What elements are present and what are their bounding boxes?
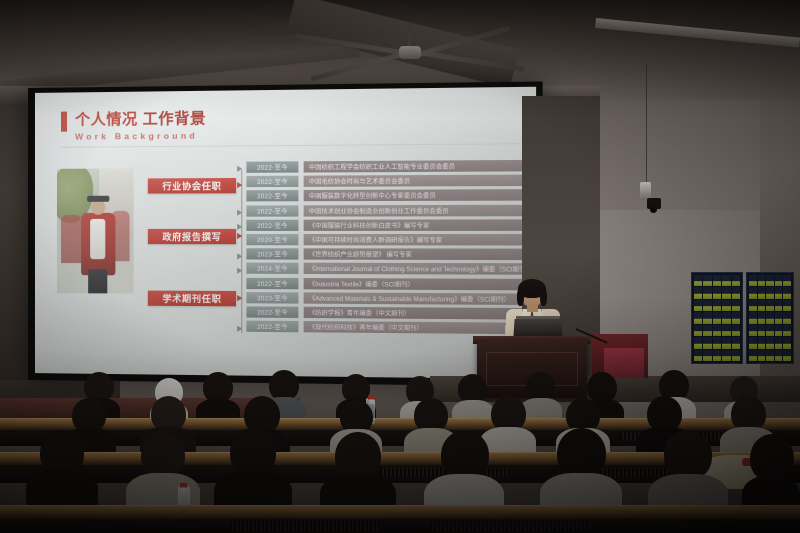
timeline-row-text: 《Advanced Materials & Sustainable Manufa… [304,292,525,305]
header-accent-bar [61,112,67,132]
header-divider [61,143,520,147]
timeline-row-text: 《现代纺织科技》青年编委（中文期刊） [304,321,525,334]
category-label-industry-association: 行业协会任职 [148,178,236,194]
row-arrow-icon [237,268,242,274]
timeline-row: 2022-至今中国技术创业协会制造业创新创业工作委员会委员 [246,204,524,216]
timeline-row: 2022-至今中国毛纺协会时尚与艺术委员会委员 [246,175,524,188]
key-cabinet-right [746,272,794,364]
timeline-row-year: 2022-至今 [246,161,298,173]
timeline-row-text: 《中国可持续时尚消费人群调研报告》编写专家 [304,234,525,245]
audience-member [320,432,396,516]
timeline-row-text: 中国毛纺协会时尚与艺术委员会委员 [304,175,525,187]
category-label-academic-journal: 学术期刊任职 [148,291,236,307]
slide-title-secondary: 工作背景 [142,110,205,128]
slide-portrait-photo [57,168,134,293]
timeline-row: 2022-至今《现代纺织科技》青年编委（中文期刊） [246,321,524,335]
timeline-row: 2022-至今中国服装数字化转型创新中心专家委员会委员 [246,190,524,202]
timeline-row: 2022-至今《纺织学报》青年编委（中文期刊） [246,306,524,319]
lecture-hall-photo: 个人情况 工作背景 Work Background 行业协会任职 政府报告 [0,0,800,533]
timeline-row-year: 2022-至今 [246,205,298,216]
timeline-row-year: 2023-至今 [246,292,298,304]
timeline-row: 2022-至今《中国服装行业科技创新白皮书》编写专家 [246,219,524,231]
row-arrow-icon [237,166,242,172]
timeline-row-year: 2022-至今 [246,176,298,187]
category-arrow-icon [237,182,242,188]
timeline-row: 2023-至今《Advanced Materials & Sustainable… [246,292,524,305]
timeline-row-text: 《International Journal of Clothing Scien… [304,263,525,275]
timeline-row: 2022-至今《Industria Textile》编委（SCI期刊） [246,277,524,290]
timeline-row-text: 《Industria Textile》编委（SCI期刊） [304,278,525,290]
timeline-rows: 2022-至今中国纺织工程学会纺织工业人工智能专业委员会委员2022-至今中国毛… [246,160,524,338]
timeline-row: 2024-至今《International Journal of Clothin… [246,263,524,275]
desk-row-nearest [0,505,800,519]
timeline-row-year: 2022-至今 [246,219,298,230]
timeline-row-text: 中国技术创业协会制造业创新创业工作委员会委员 [304,204,525,216]
presenter-laptop [513,319,562,338]
timeline-row: 2023-至今《世界纺织产业趋势展望》 编写专家 [246,248,524,260]
category-label-government-report: 政府报告撰写 [148,229,236,244]
timeline-row: 2020-至今《中国可持续时尚消费人群调研报告》编写专家 [246,234,524,245]
key-cabinet-left [691,272,743,364]
slide-title-cn: 个人情况 工作背景 [75,109,206,130]
category-arrow-icon [237,295,242,301]
slide-title-en: Work Background [75,130,198,141]
timeline-row-year: 2020-至今 [246,234,298,245]
row-arrow-icon [237,326,242,332]
timeline-row-year: 2022-至今 [246,321,298,333]
timeline-row-year: 2023-至今 [246,248,298,259]
audience-member [214,428,292,514]
projection-screen: 个人情况 工作背景 Work Background 行业协会任职 政府报告 [28,81,543,386]
desk-vent [230,521,380,531]
timeline-row-text: 中国纺织工程学会纺织工业人工智能专业委员会委员 [304,160,525,173]
row-arrow-icon [237,210,242,216]
desk-row-nearest-front [0,519,800,533]
connector-spine [241,170,242,333]
audience-member [26,430,98,510]
timeline-row-year: 2022-至今 [246,306,298,318]
timeline-row-text: 《世界纺织产业趋势展望》 编写专家 [304,248,525,260]
timeline-row-text: 《纺织学报》青年编委（中文期刊） [304,307,525,320]
slide-title-primary: 个人情况 [75,111,138,129]
presentation-slide: 个人情况 工作背景 Work Background 行业协会任职 政府报告 [35,87,536,379]
security-camera-icon [645,196,663,212]
row-arrow-icon [237,224,242,230]
hanging-cord [646,64,647,184]
category-arrow-icon [237,233,242,239]
timeline-row: 2022-至今中国纺织工程学会纺织工业人工智能专业委员会委员 [246,160,524,173]
slide-header: 个人情况 工作背景 [61,109,206,132]
row-arrow-icon [237,253,242,259]
desk-vent [430,521,590,531]
timeline-row-text: 中国服装数字化转型创新中心专家委员会委员 [304,190,525,202]
timeline-row-text: 《中国服装行业科技创新白皮书》编写专家 [304,219,525,231]
timeline-row-year: 2022-至今 [246,190,298,201]
timeline-row-year: 2022-至今 [246,277,298,288]
timeline-row-year: 2024-至今 [246,263,298,274]
